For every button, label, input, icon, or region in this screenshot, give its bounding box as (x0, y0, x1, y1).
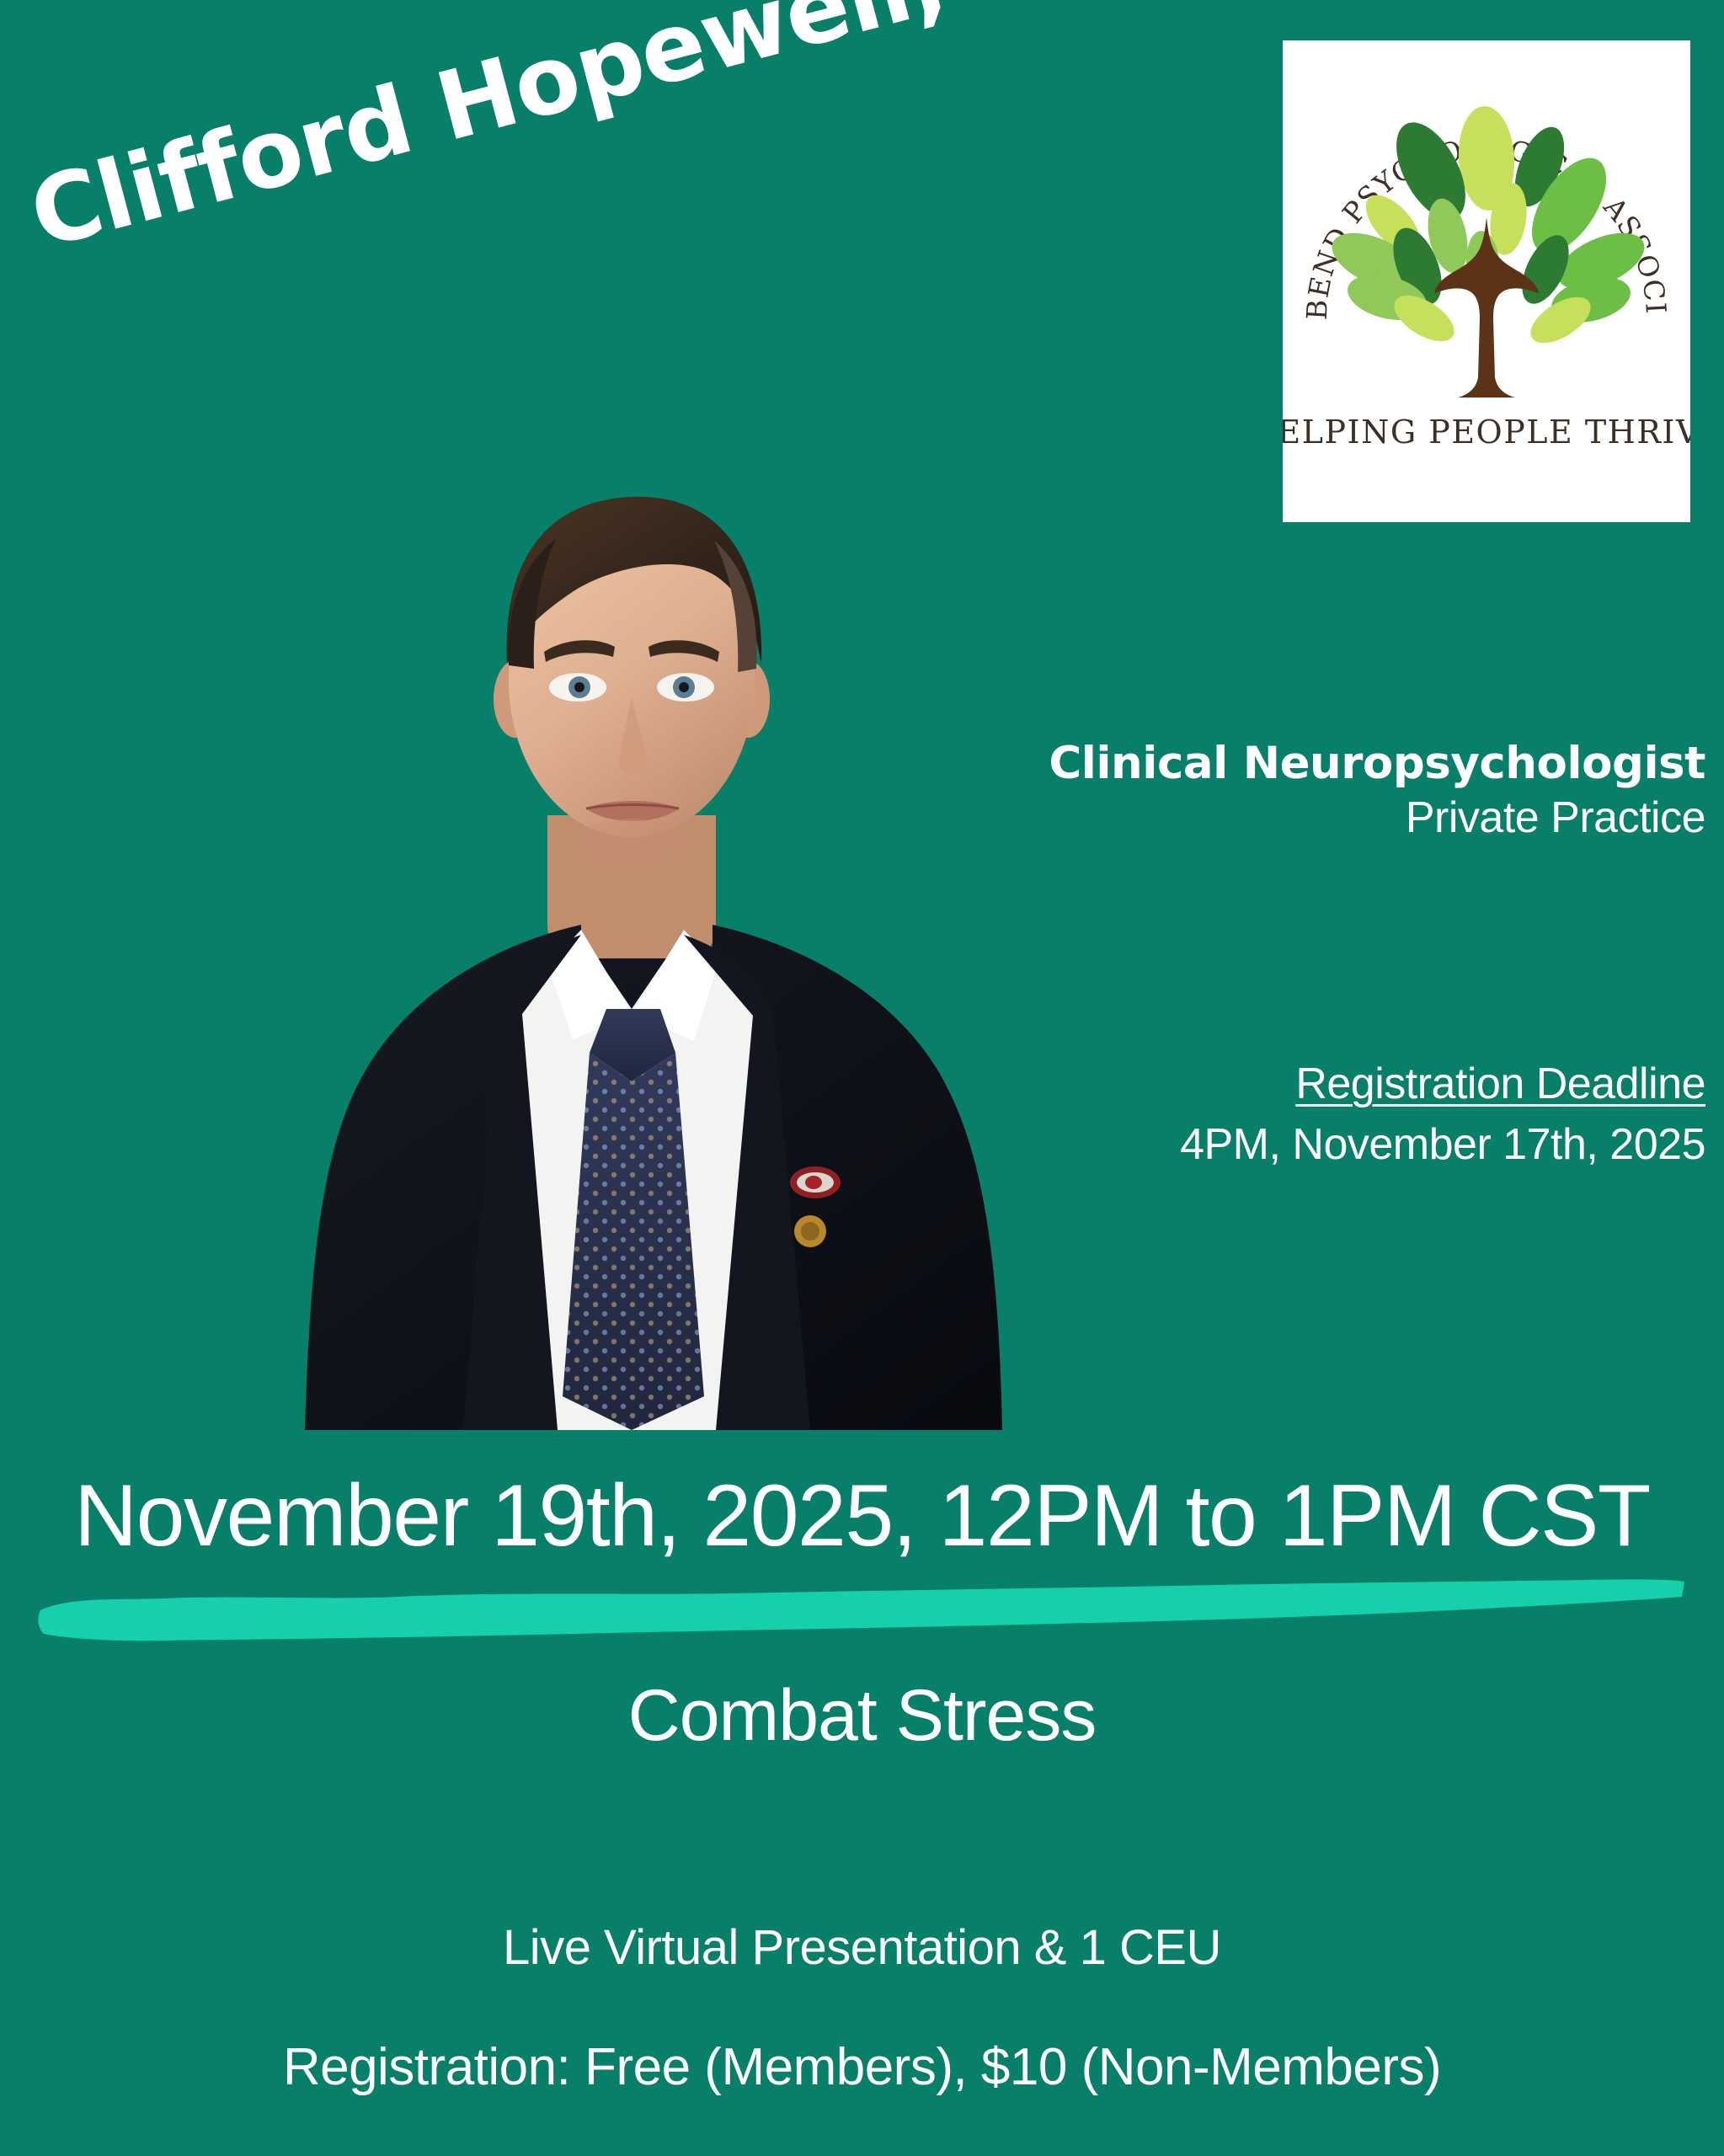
event-registration-pricing: Registration: Free (Members), $10 (Non-M… (0, 2036, 1724, 2099)
deadline-value: 4PM, November 17th, 2025 (947, 1118, 1705, 1171)
pupil-left (574, 682, 584, 692)
event-flyer: Clifford Hopewell, Ph.D., ABPP FORT BEND… (0, 0, 1724, 2156)
event-format: Live Virtual Presentation & 1 CEU (0, 1919, 1724, 1977)
brush-stroke-shape (38, 1579, 1684, 1641)
pupil-right (679, 682, 689, 692)
association-logo-card: FORT BEND PSYCHOLOGICAL ASSOCIATION (1283, 40, 1690, 522)
logo-tagline: HELPING PEOPLE THRIVE (1283, 414, 1690, 451)
event-topic: Combat Stress (0, 1674, 1724, 1758)
speaker-role: Clinical Neuropsychologist (1015, 738, 1705, 789)
speaker-portrait (211, 419, 1068, 1430)
portrait-illustration (211, 419, 1068, 1430)
lapel-pin-medal-inner (801, 1222, 819, 1241)
event-date-time: November 19th, 2025, 12PM to 1PM CST (0, 1467, 1724, 1565)
deadline-label: Registration Deadline (947, 1059, 1705, 1110)
registration-deadline-block: Registration Deadline 4PM, November 17th… (947, 1059, 1705, 1171)
event-date-block: November 19th, 2025, 12PM to 1PM CST (0, 1467, 1724, 1669)
highlight-brush-stroke (35, 1578, 1688, 1646)
lapel-pin-flag-center (805, 1176, 822, 1189)
credentials-block: Clinical Neuropsychologist Private Pract… (1015, 738, 1705, 845)
association-logo-icon: FORT BEND PSYCHOLOGICAL ASSOCIATION (1283, 40, 1690, 522)
chin-shadow (578, 819, 686, 862)
speaker-practice: Private Practice (1015, 792, 1705, 844)
speaker-name-heading: Clifford Hopewell, Ph.D., ABPP (21, 0, 1252, 266)
